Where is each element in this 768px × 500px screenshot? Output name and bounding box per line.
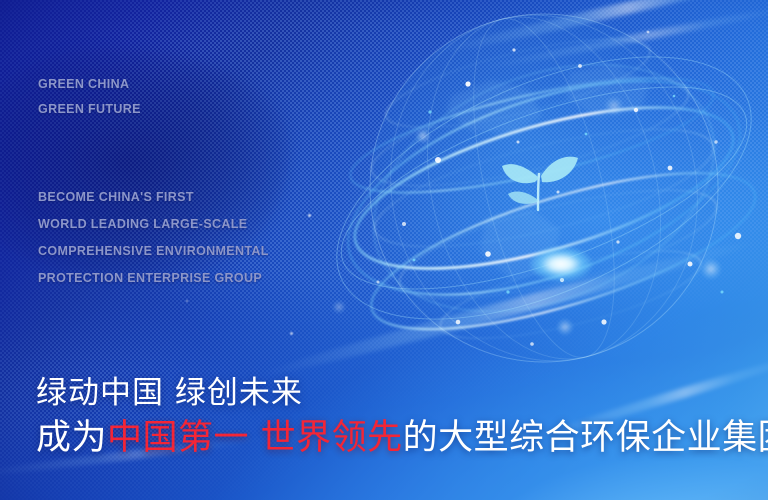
tagline-line: GREEN FUTURE — [38, 97, 141, 122]
english-tagline-top: GREEN CHINA GREEN FUTURE — [38, 72, 141, 122]
promotional-banner: GREEN CHINA GREEN FUTURE BECOME CHINA'S … — [0, 0, 768, 500]
headline-line-2: 成为中国第一 世界领先的大型综合环保企业集团 — [36, 409, 768, 460]
tagline-line: BECOME CHINA'S FIRST — [38, 184, 269, 211]
headline-highlight: 中国第一 世界领先 — [107, 418, 403, 458]
headline-prefix: 成为 — [36, 418, 107, 458]
headline-line-1: 绿动中国 绿创未来 — [36, 367, 303, 412]
headline-suffix: 的大型综合环保企业集团 — [403, 418, 768, 458]
english-tagline-middle: BECOME CHINA'S FIRST WORLD LEADING LARGE… — [38, 184, 269, 292]
tagline-line: WORLD LEADING LARGE-SCALE — [38, 211, 269, 238]
tagline-line: GREEN CHINA — [38, 72, 141, 97]
tagline-line: COMPREHENSIVE ENVIRONMENTAL — [38, 238, 269, 265]
tagline-line: PROTECTION ENTERPRISE GROUP — [38, 265, 269, 292]
